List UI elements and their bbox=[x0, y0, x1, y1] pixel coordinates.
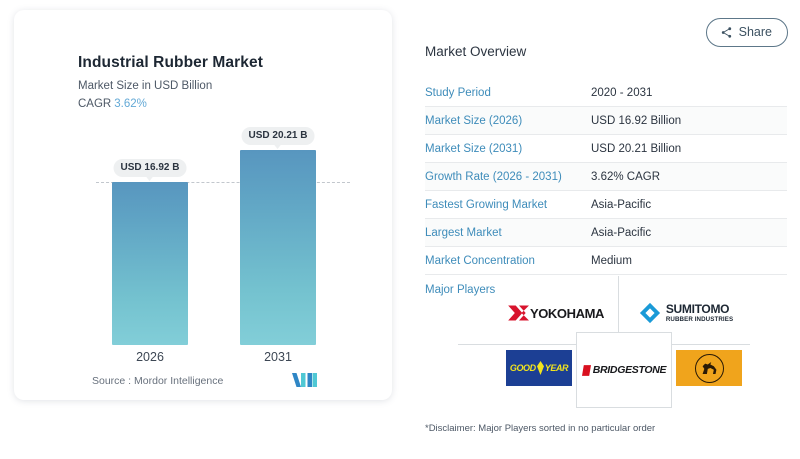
row-key: Market Size (2031) bbox=[425, 143, 591, 155]
table-row: Market Size (2026) USD 16.92 Billion bbox=[425, 107, 787, 135]
bar-group-2031[interactable]: USD 20.21 B bbox=[240, 150, 316, 345]
cagr-row: CAGR3.62% bbox=[78, 98, 147, 110]
row-key: Study Period bbox=[425, 87, 591, 99]
share-button-label: Share bbox=[739, 25, 772, 39]
major-players-logos: YOKOHAMA SUMITOMO RUBBER INDUSTRIES GOOD… bbox=[500, 288, 750, 406]
logo-sumitomo: SUMITOMO RUBBER INDUSTRIES bbox=[628, 294, 744, 332]
table-row: Fastest Growing Market Asia-Pacific bbox=[425, 191, 787, 219]
disclaimer-text: *Disclaimer: Major Players sorted in no … bbox=[425, 423, 655, 434]
logo-goodyear: GOOD YEAR bbox=[506, 350, 572, 386]
share-nodes-icon bbox=[720, 26, 733, 39]
sumitomo-diamond-icon bbox=[639, 302, 661, 324]
logo-bridgestone: BRIDGESTONE bbox=[576, 332, 672, 408]
market-overview-title: Market Overview bbox=[425, 44, 787, 59]
chart-card: Industrial Rubber Market Market Size in … bbox=[14, 10, 392, 400]
cagr-value: 3.62% bbox=[114, 98, 147, 110]
winged-foot-icon bbox=[536, 361, 545, 375]
sumitomo-wordmark: SUMITOMO bbox=[666, 303, 733, 316]
table-row: Growth Rate (2026 - 2031) 3.62% CAGR bbox=[425, 163, 787, 191]
bridgestone-wordmark: BRIDGESTONE bbox=[593, 364, 667, 376]
yokohama-wordmark: YOKOHAMA bbox=[530, 306, 604, 321]
table-row: Study Period 2020 - 2031 bbox=[425, 79, 787, 107]
market-summary-page: Industrial Rubber Market Market Size in … bbox=[0, 0, 800, 459]
logo-continental bbox=[676, 350, 742, 386]
chart-subtitle: Market Size in USD Billion bbox=[78, 80, 212, 92]
bar-value-label-2031: USD 20.21 B bbox=[242, 127, 315, 145]
x-axis-tick-2031: 2031 bbox=[240, 350, 316, 364]
row-key: Growth Rate (2026 - 2031) bbox=[425, 171, 591, 183]
goodyear-wordmark-right: YEAR bbox=[545, 363, 568, 373]
horse-icon bbox=[700, 361, 719, 375]
logo-divider-vertical bbox=[618, 276, 619, 334]
sumitomo-subtext: RUBBER INDUSTRIES bbox=[666, 316, 733, 323]
row-value: 2020 - 2031 bbox=[591, 87, 652, 99]
row-value: Medium bbox=[591, 255, 632, 267]
bar-2031[interactable] bbox=[240, 150, 316, 345]
goodyear-wordmark-left: GOOD bbox=[510, 363, 536, 373]
mordor-intelligence-logo-icon bbox=[292, 372, 318, 388]
cagr-label: CAGR bbox=[78, 98, 111, 110]
continental-ring bbox=[695, 354, 724, 383]
row-value: Asia-Pacific bbox=[591, 199, 651, 211]
row-value: USD 16.92 Billion bbox=[591, 115, 681, 127]
row-value: Asia-Pacific bbox=[591, 227, 651, 239]
page-title: Industrial Rubber Market bbox=[78, 54, 263, 72]
table-row: Market Concentration Medium bbox=[425, 247, 787, 275]
bar-value-label-2026: USD 16.92 B bbox=[114, 159, 187, 177]
logo-yokohama: YOKOHAMA bbox=[500, 296, 612, 330]
table-row: Market Size (2031) USD 20.21 Billion bbox=[425, 135, 787, 163]
row-key: Market Size (2026) bbox=[425, 115, 591, 127]
share-button[interactable]: Share bbox=[706, 18, 788, 47]
yokohama-mark-icon bbox=[508, 303, 530, 323]
bar-group-2026[interactable]: USD 16.92 B bbox=[112, 182, 188, 345]
market-overview-panel: Market Overview Study Period 2020 - 2031… bbox=[425, 44, 787, 305]
row-value: USD 20.21 Billion bbox=[591, 143, 681, 155]
row-key: Market Concentration bbox=[425, 255, 591, 267]
row-key: Largest Market bbox=[425, 227, 591, 239]
bridgestone-mark-icon bbox=[582, 365, 591, 376]
source-text: Source : Mordor Intelligence bbox=[92, 375, 223, 387]
table-row: Largest Market Asia-Pacific bbox=[425, 219, 787, 247]
row-key: Fastest Growing Market bbox=[425, 199, 591, 211]
bar-chart-plot: USD 16.92 B USD 20.21 B bbox=[62, 130, 362, 345]
row-value: 3.62% CAGR bbox=[591, 171, 660, 183]
bar-2026[interactable] bbox=[112, 182, 188, 345]
x-axis-tick-2026: 2026 bbox=[112, 350, 188, 364]
